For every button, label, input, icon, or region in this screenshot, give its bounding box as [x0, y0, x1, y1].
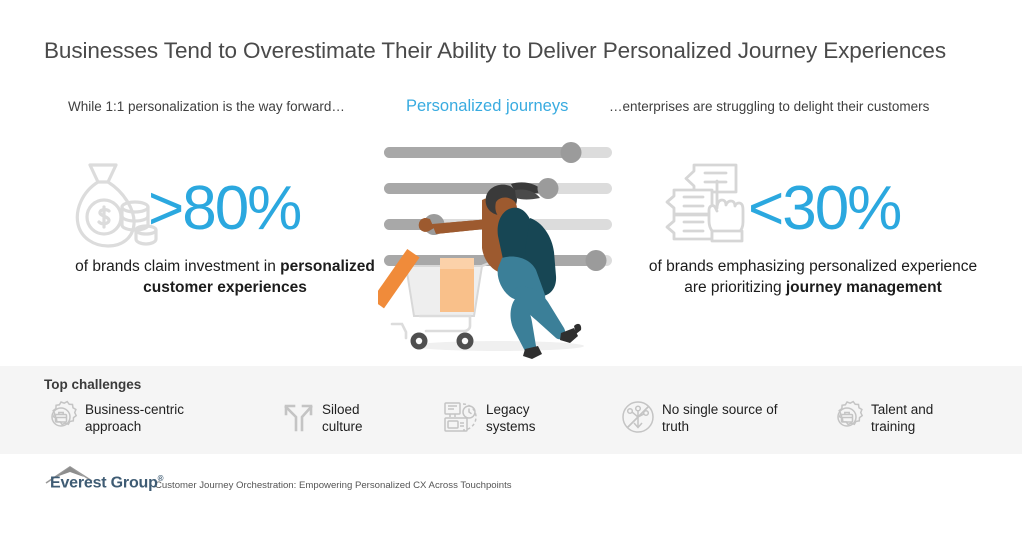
challenge-label: Siloed culture — [322, 400, 363, 435]
shopping-journey-illustration — [378, 140, 618, 360]
everest-group-logo: Everest Group® — [44, 466, 154, 494]
stat-block-journey-management: <30% of brands emphasizing personalized … — [648, 160, 978, 256]
subtitle-center-highlight: Personalized journeys — [406, 97, 568, 116]
stat-block-investment: >80% of brands claim investment in perso… — [60, 160, 390, 256]
challenge-item-talent-training[interactable]: Talent and training — [830, 400, 933, 439]
stat-header: >80% — [60, 160, 390, 256]
legacy-computer-icon — [443, 400, 479, 439]
gear-briefcase-icon — [44, 400, 78, 439]
registered-mark: ® — [158, 474, 164, 483]
subtitle-right: …enterprises are struggling to delight t… — [609, 99, 929, 114]
no-single-source-icon — [621, 400, 655, 439]
challenge-label: Business-centric approach — [85, 400, 184, 435]
challenge-label: Legacy systems — [486, 400, 536, 435]
challenge-item-business-centric[interactable]: Business-centric approach — [44, 400, 184, 439]
hand-pointer-chat-bubbles-icon — [664, 162, 748, 251]
footer: Everest Group® Customer Journey Orchestr… — [44, 466, 512, 494]
stat-value-investment: >80% — [148, 178, 300, 240]
footer-caption: Customer Journey Orchestration: Empoweri… — [155, 480, 512, 494]
stat-caption-journey-management: of brands emphasizing personalized exper… — [648, 256, 978, 298]
challenge-item-legacy-systems[interactable]: Legacy systems — [443, 400, 536, 439]
challenge-item-no-single-source[interactable]: No single source of truth — [621, 400, 778, 439]
brand-name: Everest Group® — [50, 474, 163, 492]
gear-briefcase-icon — [830, 400, 864, 439]
diverging-arrows-icon — [281, 400, 315, 439]
stat-header: <30% — [648, 160, 978, 256]
stat-caption-investment: of brands claim investment in personaliz… — [60, 256, 390, 298]
page-title: Businesses Tend to Overestimate Their Ab… — [44, 38, 994, 64]
top-challenges-title: Top challenges — [44, 377, 141, 392]
challenge-item-siloed-culture[interactable]: Siloed culture — [281, 400, 363, 439]
slider-knob-1 — [561, 142, 582, 163]
slider-knob-2 — [538, 178, 559, 199]
money-bag-coins-icon — [72, 162, 158, 255]
stat-value-journey-management: <30% — [748, 178, 900, 240]
top-challenges-band: Top challenges Business-centric approach — [0, 366, 1022, 454]
slider-knob-4 — [586, 250, 607, 271]
subtitle-left: While 1:1 personalization is the way for… — [68, 99, 345, 114]
challenge-label: Talent and training — [871, 400, 933, 435]
stat-caption-bold: journey management — [786, 279, 942, 296]
challenge-label: No single source of truth — [662, 400, 778, 435]
stat-caption-plain: of brands claim investment in — [75, 258, 280, 275]
subtitle-row: While 1:1 personalization is the way for… — [0, 99, 1022, 121]
